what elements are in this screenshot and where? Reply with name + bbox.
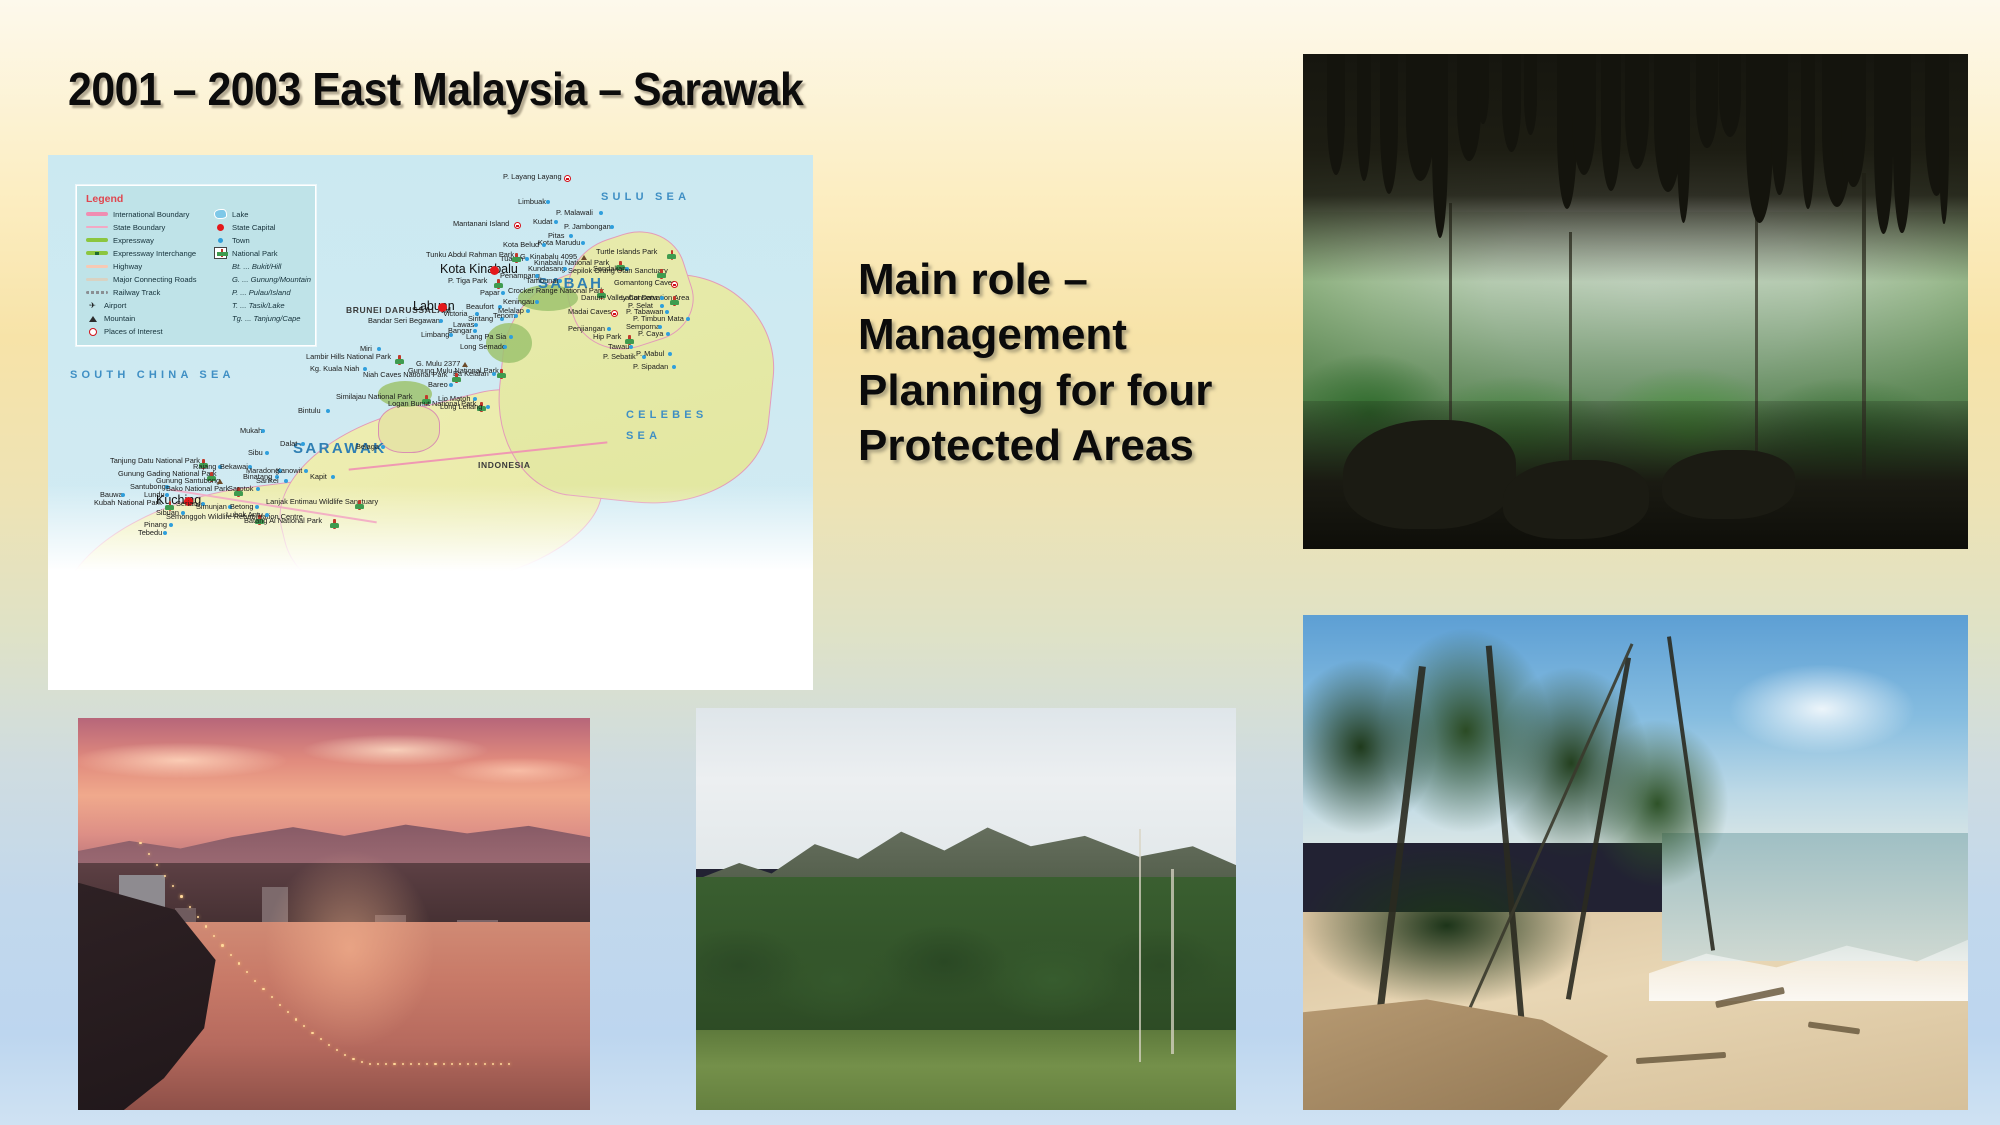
- town-marker: [660, 296, 664, 300]
- legend-item-label: Expressway: [113, 236, 154, 245]
- stalactite: [1502, 54, 1522, 152]
- map-place-label: Niah Caves National Park: [363, 371, 448, 380]
- legend-item: Mountain: [86, 314, 204, 324]
- town-marker: [449, 383, 453, 387]
- red-dot-icon: [214, 224, 227, 231]
- stalactite: [1477, 54, 1489, 124]
- stalactite: [1677, 54, 1690, 223]
- town-marker: [514, 314, 518, 318]
- map-place-label: Kg. Kuala Niah: [310, 365, 359, 374]
- legend-item-label: Places of Interest: [104, 327, 163, 336]
- stalactite: [1893, 54, 1910, 233]
- map-place-label: Sarikei: [256, 477, 279, 486]
- legend-item: Places of Interest: [86, 327, 204, 337]
- legend-item-label: T. ... Tasik/Lake: [232, 301, 285, 310]
- sun-reflection: [232, 812, 468, 1086]
- map-place-label: Bintulu: [298, 407, 321, 416]
- legend-item-label: Railway Track: [113, 288, 160, 297]
- landmass-brunei: [378, 405, 440, 453]
- map-place-label: Bandar Seri Begawan: [368, 317, 440, 326]
- map-legend: Legend International BoundaryState Bound…: [76, 185, 316, 346]
- town-marker: [261, 429, 265, 433]
- legend-item: International Boundary: [86, 209, 204, 219]
- map-place-label: Tebedu: [138, 529, 162, 538]
- airplane-icon: ✈: [86, 301, 99, 310]
- legend-item: ✈Airport: [86, 301, 204, 311]
- legend-item-label: State Capital: [232, 223, 275, 232]
- town-marker: [501, 291, 505, 295]
- map-place-label: Lang Pa Sia: [466, 333, 506, 342]
- map-place-label: Tunku Abdul Rahman Park: [426, 251, 514, 260]
- stalactite: [1841, 54, 1865, 187]
- legend-item: Bt. ... Bukit/Hill: [214, 261, 306, 271]
- legend-item: Town: [214, 235, 306, 245]
- state-capital-marker: [490, 266, 499, 275]
- legend-item-label: Airport: [104, 301, 126, 310]
- map-place-label: Turtle Islands Park: [596, 248, 657, 257]
- legend-item: State Capital: [214, 222, 306, 232]
- coastal-forest: [1303, 625, 1782, 1031]
- map-place-label: Kota Belud: [503, 241, 539, 250]
- map-place-label: Beaufort: [466, 303, 494, 312]
- stalactite: [1696, 54, 1718, 148]
- map-place-label: Limbuak: [518, 198, 546, 207]
- town-marker: [558, 279, 562, 283]
- street-light: [352, 1058, 354, 1060]
- street-light: [434, 1063, 436, 1065]
- pink-thin-line: [86, 226, 108, 228]
- stalactite: [1524, 54, 1538, 135]
- green-line-with-node: [86, 251, 108, 255]
- map-place-label: Gomantong Caves: [614, 279, 676, 288]
- street-light: [393, 1063, 395, 1065]
- legend-item-label: Expressway Interchange: [113, 249, 196, 258]
- presentation-slide: 2001 – 2003 East Malaysia – Sarawak SULU…: [0, 0, 2000, 1125]
- cave-rock: [1662, 450, 1795, 519]
- dashed-line: [86, 291, 108, 294]
- street-light: [197, 916, 199, 918]
- legend-item-label: Tg. ... Tanjung/Cape: [232, 314, 301, 323]
- map-place-label: P. Layang Layang: [503, 173, 562, 182]
- map-place-label: P. Sipadan: [633, 363, 668, 372]
- grass-foreground: [696, 1030, 1236, 1110]
- town-marker: [255, 505, 259, 509]
- stalactite: [1771, 54, 1787, 195]
- map-place-label: P. Sebatik: [603, 353, 636, 362]
- legend-column-left: International BoundaryState BoundaryExpr…: [86, 209, 204, 337]
- legend-item: Expressway: [86, 235, 204, 245]
- legend-item: Lake: [214, 209, 306, 219]
- map-place-label: Belaga: [356, 443, 379, 452]
- map-place-label: Serian: [176, 500, 197, 509]
- stalactite: [1719, 54, 1741, 137]
- map-place-label: P. Jambongan: [564, 223, 611, 232]
- map-place-label: Tenom: [493, 312, 515, 321]
- map-place-label: P. Caya: [638, 330, 663, 339]
- legend-item: G. ... Gunung/Mountain: [214, 274, 306, 284]
- stalactite: [1357, 54, 1372, 181]
- town-marker: [554, 220, 558, 224]
- green-line: [86, 238, 108, 242]
- street-light: [238, 962, 240, 964]
- legend-item: National Park: [214, 248, 306, 258]
- street-light: [189, 906, 191, 908]
- map-place-label: Sepilok Orang Utan Sanctuary: [568, 267, 668, 276]
- stalactite: [1939, 54, 1948, 224]
- legend-item-label: Bt. ... Bukit/Hill: [232, 262, 281, 271]
- legend-item: Expressway Interchange: [86, 248, 204, 258]
- street-light: [320, 1038, 322, 1040]
- legend-item: State Boundary: [86, 222, 204, 232]
- dead-tree: [1139, 829, 1142, 1062]
- town-marker: [381, 445, 385, 449]
- map-place-label: Penampang: [500, 272, 540, 281]
- street-light: [311, 1032, 313, 1034]
- forest-canopy: [696, 877, 1236, 1054]
- national-park-marker: [395, 355, 404, 365]
- legend-item-label: Highway: [113, 262, 142, 271]
- map-of-east-malaysia: SULU SEA SOUTH CHINA SEA CELEBES SEA SAB…: [48, 155, 813, 690]
- legend-column-right: LakeState CapitalTownNational ParkBt. ..…: [214, 209, 306, 337]
- map-place-label: Long Lellang: [440, 403, 482, 412]
- map-place-label: Madai Caves: [568, 308, 611, 317]
- legend-item-label: P. ... Pulau/Island: [232, 288, 291, 297]
- legend-item-label: G. ... Gunung/Mountain: [232, 275, 311, 284]
- map-place-label: Papar: [480, 289, 500, 298]
- cave-rock: [1503, 460, 1649, 539]
- map-place-label: P. Mabul: [636, 350, 664, 359]
- street-light: [328, 1044, 330, 1046]
- town-marker: [474, 323, 478, 327]
- national-park-marker: [497, 369, 506, 379]
- slide-title: 2001 – 2003 East Malaysia – Sarawak: [68, 62, 803, 116]
- map-place-label: Tanjung Datu National Park: [110, 457, 200, 466]
- map-place-label: Batang Ai National Park: [244, 517, 322, 526]
- street-light: [402, 1063, 404, 1065]
- town-marker: [629, 345, 633, 349]
- place-of-interest-marker: [564, 175, 571, 182]
- town-marker: [542, 243, 546, 247]
- legend-item: P. ... Pulau/Island: [214, 288, 306, 298]
- legend-item: Highway: [86, 261, 204, 271]
- map-place-label: Kapit: [310, 473, 327, 482]
- main-role-text: Main role – Management Planning for four…: [858, 252, 1238, 474]
- map-place-label: Mantanani Island: [453, 220, 509, 229]
- town-marker: [581, 241, 585, 245]
- place-of-interest-marker: [611, 310, 618, 317]
- stalactite: [1874, 54, 1893, 234]
- map-place-label: Kubah National Park: [94, 499, 162, 508]
- town-marker: [672, 365, 676, 369]
- town-marker: [509, 335, 513, 339]
- town-marker: [503, 345, 507, 349]
- stalactite: [1601, 54, 1621, 191]
- sea-label: SULU SEA: [601, 191, 690, 203]
- cave-photo: [1303, 54, 1968, 549]
- map-place-label: Dalat: [280, 440, 297, 449]
- map-place-label: Victoria: [443, 310, 468, 319]
- town-marker: [163, 531, 167, 535]
- stalactite: [1380, 54, 1398, 194]
- national-park-marker: [355, 500, 364, 510]
- map-place-label: Lambir Hills National Park: [306, 353, 391, 362]
- map-place-label: Hip Park: [593, 333, 621, 342]
- town-marker: [121, 493, 125, 497]
- street-light: [295, 1018, 297, 1020]
- pink-thick-line: [86, 212, 108, 216]
- country-label-indonesia: INDONESIA: [478, 460, 531, 470]
- town-marker: [169, 523, 173, 527]
- map-place-label: Limbang: [421, 331, 449, 340]
- red-circle-outline-icon: [86, 328, 99, 336]
- national-park-marker: [330, 519, 339, 529]
- street-light: [484, 1063, 486, 1065]
- town-marker: [301, 442, 305, 446]
- legend-item-label: Major Connecting Roads: [113, 275, 197, 284]
- place-of-interest-marker: [671, 281, 678, 288]
- town-marker: [535, 300, 539, 304]
- legend-item-label: State Boundary: [113, 223, 165, 232]
- stalactite: [1327, 54, 1345, 175]
- triangle-icon: [86, 316, 99, 322]
- stalactite: [1625, 54, 1649, 169]
- dead-tree: [1171, 869, 1174, 1054]
- national-park-marker: [670, 296, 679, 306]
- national-park-marker: [452, 373, 461, 383]
- legend-title: Legend: [86, 193, 306, 205]
- map-place-label: Sarotok: [228, 485, 253, 494]
- street-light: [271, 996, 273, 998]
- national-park-marker: [667, 250, 676, 260]
- town-marker: [607, 327, 611, 331]
- street-light: [230, 954, 232, 956]
- legend-item-label: National Park: [232, 249, 278, 258]
- place-of-interest-marker: [514, 222, 521, 229]
- map-place-label: Sibu: [248, 449, 263, 458]
- map-place-label: P. Tiga Park: [448, 277, 487, 286]
- street-light: [443, 1063, 445, 1065]
- legend-item: Major Connecting Roads: [86, 274, 204, 284]
- map-place-label: Kudat: [533, 218, 552, 227]
- town-marker: [525, 257, 529, 261]
- map-place-label: Long Semado: [460, 343, 506, 352]
- street-light: [205, 925, 207, 927]
- town-marker: [492, 372, 496, 376]
- sea-label: CELEBES SEA: [626, 405, 686, 447]
- blue-dot-icon: [214, 238, 227, 243]
- legend-item: Tg. ... Tanjung/Cape: [214, 314, 306, 324]
- beach-erosion-photo: [1303, 615, 1968, 1110]
- street-light: [221, 944, 223, 946]
- map-place-label: P. Malawali: [556, 209, 593, 218]
- map-place-label: Mukah: [240, 427, 262, 436]
- legend-item: Railway Track: [86, 288, 204, 298]
- street-light: [492, 1063, 494, 1065]
- legend-item-label: Mountain: [104, 314, 135, 323]
- clouds: [78, 726, 590, 812]
- national-park-icon: [214, 247, 227, 259]
- city-sunset-photo: [78, 718, 590, 1110]
- map-place-label: Simunjan: [196, 503, 227, 512]
- stalactite: [1432, 54, 1448, 238]
- lake-shape-icon: [214, 209, 227, 219]
- legend-item-label: Lake: [232, 210, 248, 219]
- street-light: [180, 895, 182, 897]
- legend-item-label: Town: [232, 236, 250, 245]
- map-place-label: Kanowit: [276, 467, 302, 476]
- street-light: [279, 1004, 281, 1006]
- town-marker: [668, 352, 672, 356]
- town-marker: [331, 475, 335, 479]
- cave-rock: [1343, 420, 1516, 529]
- map-place-label: Bekawai: [220, 463, 248, 472]
- peach-line: [86, 265, 108, 268]
- forest-hills-photo: [696, 708, 1236, 1110]
- map-place-label: Tawau: [608, 343, 629, 352]
- map-place-label: Bareo: [428, 381, 448, 390]
- town-marker: [599, 211, 603, 215]
- grey-line: [86, 278, 108, 281]
- legend-item: T. ... Tasik/Lake: [214, 301, 306, 311]
- sea-label: SOUTH CHINA SEA: [70, 369, 235, 381]
- legend-item-label: International Boundary: [113, 210, 189, 219]
- street-light: [262, 988, 264, 990]
- stalactite: [1801, 54, 1815, 209]
